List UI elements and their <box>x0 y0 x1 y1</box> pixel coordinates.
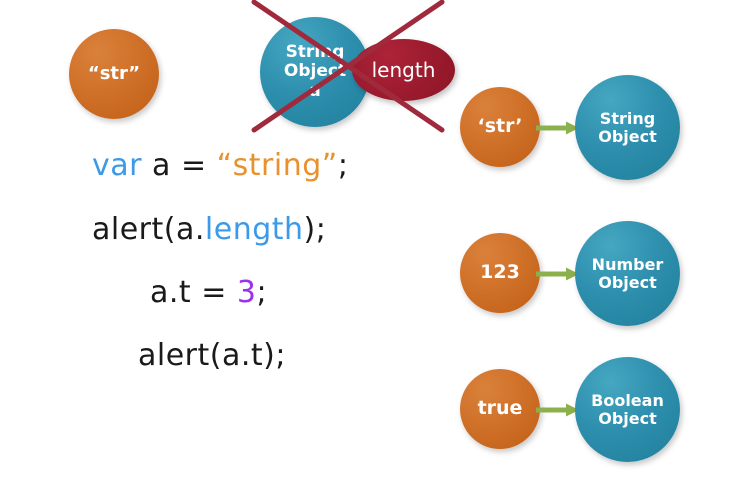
wrapper-object-circle-number: Number Object <box>575 221 680 326</box>
token-number-3: 3 <box>237 275 257 310</box>
wrapper-object-boolean-line1: Boolean <box>591 391 664 410</box>
token-string-literal: “string” <box>217 148 338 183</box>
token-assign-a: a = <box>142 148 217 183</box>
token-semicolon-1: ; <box>338 148 349 183</box>
mapping-row-boolean: true Boolean Object <box>460 357 690 467</box>
token-assign-at: a.t = <box>150 275 237 310</box>
primitive-label-123: 123 <box>480 262 520 283</box>
wrapper-object-circle-string: String Object <box>575 75 680 180</box>
crossed-out-concept-group: String Object a length <box>0 0 460 140</box>
wrapper-object-label-string: String Object <box>598 110 657 146</box>
wrapper-object-circle-boolean: Boolean Object <box>575 357 680 462</box>
primitive-circle-123: 123 <box>460 233 540 313</box>
string-object-a-line1: String <box>286 42 345 62</box>
primitive-circle-true: true <box>460 369 540 449</box>
string-object-a-label: String Object a <box>284 43 346 100</box>
code-line-alert-t: alert(a.t); <box>138 338 286 373</box>
right-arrow-icon <box>536 402 580 418</box>
right-arrow-icon <box>536 266 580 282</box>
wrapper-object-label-number: Number Object <box>592 256 664 292</box>
token-alert-open-1: alert(a. <box>92 212 205 247</box>
string-object-a-line2: Object <box>284 61 346 81</box>
token-alert-at: alert(a.t); <box>138 338 286 373</box>
string-object-a-line3: a <box>309 81 320 101</box>
token-alert-close-1: ); <box>304 212 327 247</box>
wrapper-object-boolean-line2: Object <box>598 409 657 428</box>
mapping-row-number: 123 Number Object <box>460 221 690 331</box>
wrapper-object-string-line2: Object <box>598 127 657 146</box>
right-arrow-icon <box>536 120 580 136</box>
code-line-alert-length: alert(a.length); <box>92 212 326 247</box>
length-property-ellipse: length <box>352 39 455 101</box>
wrapper-object-label-boolean: Boolean Object <box>591 392 664 428</box>
code-line-var-declaration: var a = “string”; <box>92 148 348 183</box>
token-keyword-var: var <box>92 148 142 183</box>
token-semicolon-3: ; <box>257 275 268 310</box>
code-line-assign-t: a.t = 3; <box>150 275 267 310</box>
token-property-length: length <box>205 212 304 247</box>
slide-canvas: “str” String Object a length var a = “st… <box>0 0 756 479</box>
wrapper-object-string-line1: String <box>600 109 655 128</box>
primitive-label-str: ‘str’ <box>478 116 523 137</box>
primitive-label-true: true <box>478 398 523 419</box>
wrapper-object-number-line1: Number <box>592 255 664 274</box>
primitive-circle-str: ‘str’ <box>460 87 540 167</box>
mapping-row-string: ‘str’ String Object <box>460 75 690 185</box>
length-property-label: length <box>372 58 436 82</box>
wrapper-object-number-line2: Object <box>598 273 657 292</box>
